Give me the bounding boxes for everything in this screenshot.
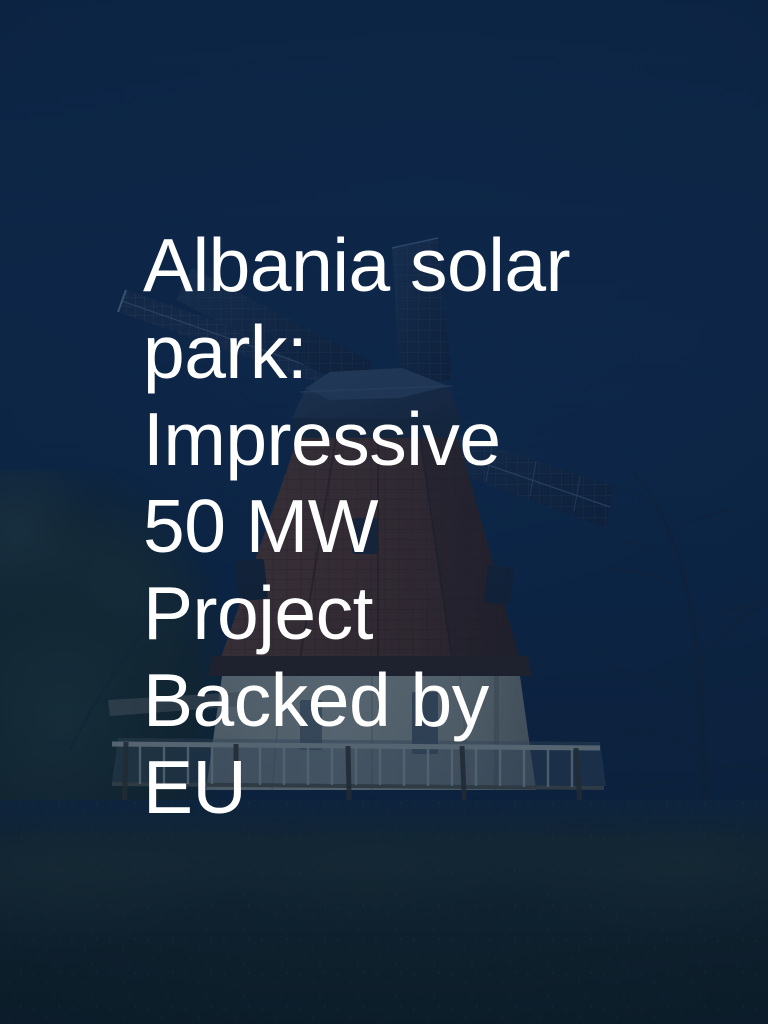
headline-container: Albania solar park: Impressive 50 MW Pro… [143, 222, 643, 831]
headline-card: Albania solar park: Impressive 50 MW Pro… [0, 0, 768, 1024]
page-title: Albania solar park: Impressive 50 MW Pro… [143, 222, 643, 831]
